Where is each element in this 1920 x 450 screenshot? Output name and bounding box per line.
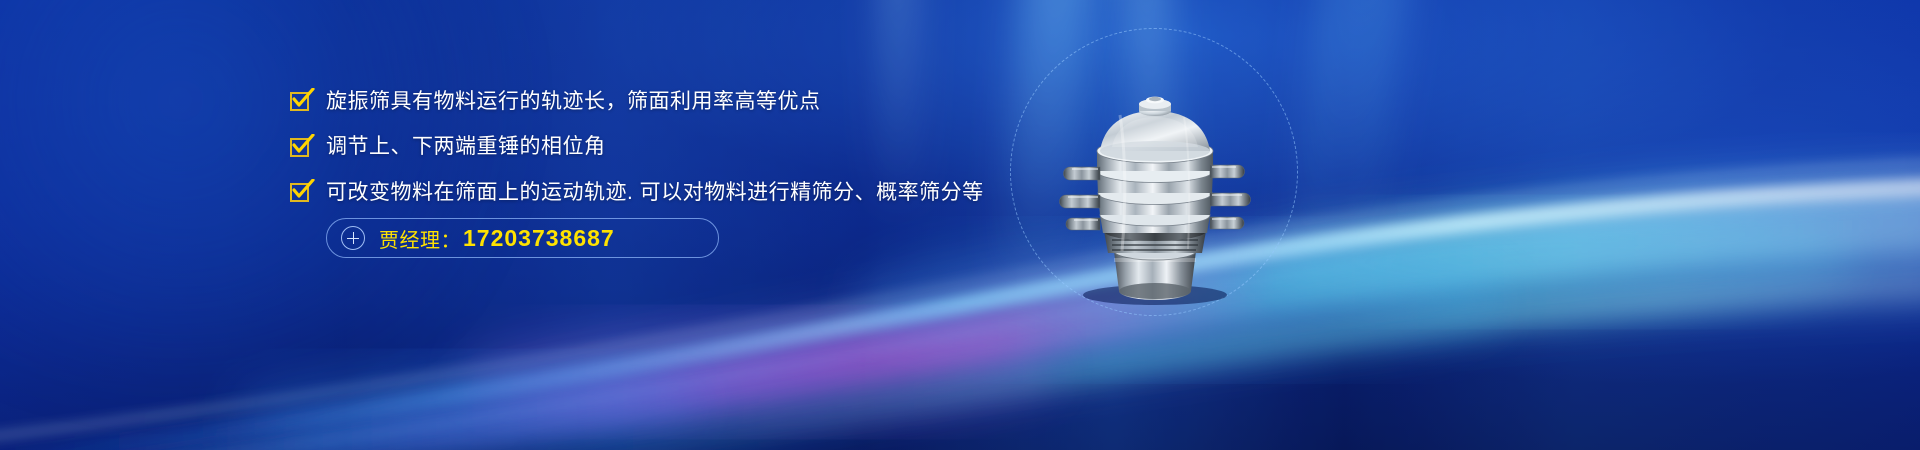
contact-phone-button[interactable]: 贾经理： 17203738687 — [326, 218, 719, 258]
list-item: 可改变物料在筛面上的运动轨迹. 可以对物料进行精筛分、概率筛分等 — [290, 179, 1030, 207]
list-item: 旋振筛具有物料运行的轨迹长，筛面利用率高等优点 — [290, 88, 1030, 116]
light-ribbon-swoosh — [0, 0, 1920, 450]
list-item-label: 调节上、下两端重锤的相位角 — [326, 133, 606, 161]
list-item-label: 旋振筛具有物料运行的轨迹长，筛面利用率高等优点 — [326, 88, 821, 116]
check-square-icon — [290, 183, 312, 205]
list-item: 调节上、下两端重锤的相位角 — [290, 133, 1030, 161]
plus-circle-icon — [341, 226, 365, 250]
check-square-icon — [290, 92, 312, 114]
list-item-label: 可改变物料在筛面上的运动轨迹. 可以对物料进行精筛分、概率筛分等 — [326, 179, 984, 207]
contact-name: 贾经理： — [379, 224, 461, 253]
promotional-banner: 旋振筛具有物料运行的轨迹长，筛面利用率高等优点 调节上、下两端重锤的相位角 可改… — [0, 0, 1920, 450]
rotary-vibrating-screen-image — [1008, 55, 1298, 305]
check-square-icon — [290, 138, 312, 160]
contact-phone-number: 17203738687 — [463, 225, 615, 252]
feature-list: 旋振筛具有物料运行的轨迹长，筛面利用率高等优点 调节上、下两端重锤的相位角 可改… — [290, 88, 1030, 224]
